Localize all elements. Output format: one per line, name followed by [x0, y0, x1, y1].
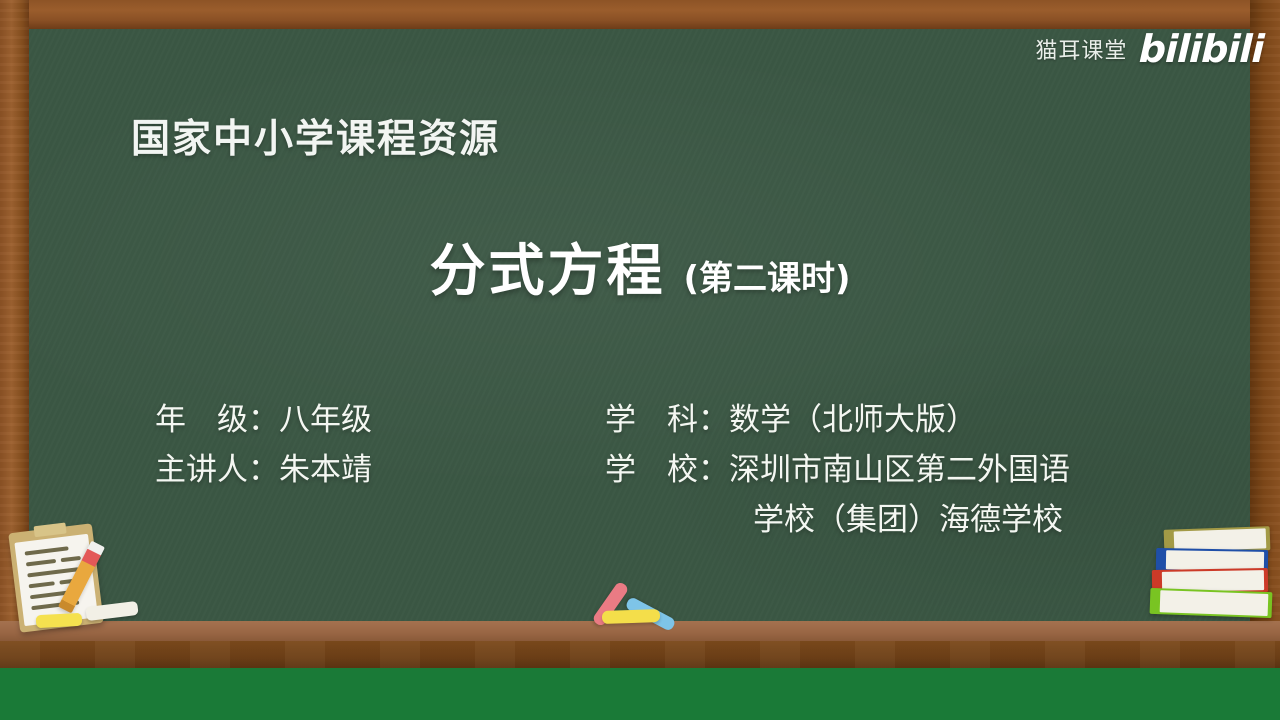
chalk-yellow-left-icon: [36, 613, 83, 628]
lesson-title: 分式方程: [429, 226, 665, 307]
info-school-line2: 学校（集团）海德学校: [605, 495, 1220, 545]
chalk-pieces-center: [588, 578, 708, 624]
watermark: 猫耳课堂 bilibili: [1035, 30, 1264, 68]
info-lecturer: 主讲人：朱本靖: [155, 445, 605, 495]
lesson-subtitle: (第二课时): [683, 251, 850, 300]
clipboard-decoration: [8, 524, 138, 636]
info-subject: 学 科：数学（北师大版）: [605, 395, 1220, 445]
lesson-info-left-column: 年 级：八年级 主讲人：朱本靖: [155, 395, 605, 545]
bottom-green-band: [0, 666, 1280, 720]
info-grade: 年 级：八年级: [155, 395, 605, 445]
organization-title: 国家中小学课程资源: [131, 108, 500, 164]
info-school-line1: 学 校：深圳市南山区第二外国语: [605, 445, 1220, 495]
lesson-title-row: 分式方程 (第二课时): [0, 226, 1280, 307]
lesson-info-block: 年 级：八年级 主讲人：朱本靖 学 科：数学（北师大版） 学 校：深圳市南山区第…: [155, 395, 1220, 545]
clipboard-clasp-icon: [34, 522, 67, 537]
chalk-ledge-top: [0, 621, 1280, 641]
chalk-yellow-icon: [602, 609, 660, 624]
book-green-icon: [1150, 588, 1273, 618]
channel-watermark-text: 猫耳课堂: [1035, 33, 1127, 65]
chalk-ledge-body: [0, 641, 1280, 668]
book-stack-decoration: [1150, 528, 1274, 636]
lesson-info-right-column: 学 科：数学（北师大版） 学 校：深圳市南山区第二外国语 学校（集团）海德学校: [605, 395, 1220, 545]
slide-canvas: 猫耳课堂 bilibili 国家中小学课程资源 分式方程 (第二课时) 年 级：…: [0, 0, 1280, 720]
board-frame-top: [0, 0, 1280, 29]
bilibili-logo-icon: bilibili: [1139, 30, 1265, 68]
